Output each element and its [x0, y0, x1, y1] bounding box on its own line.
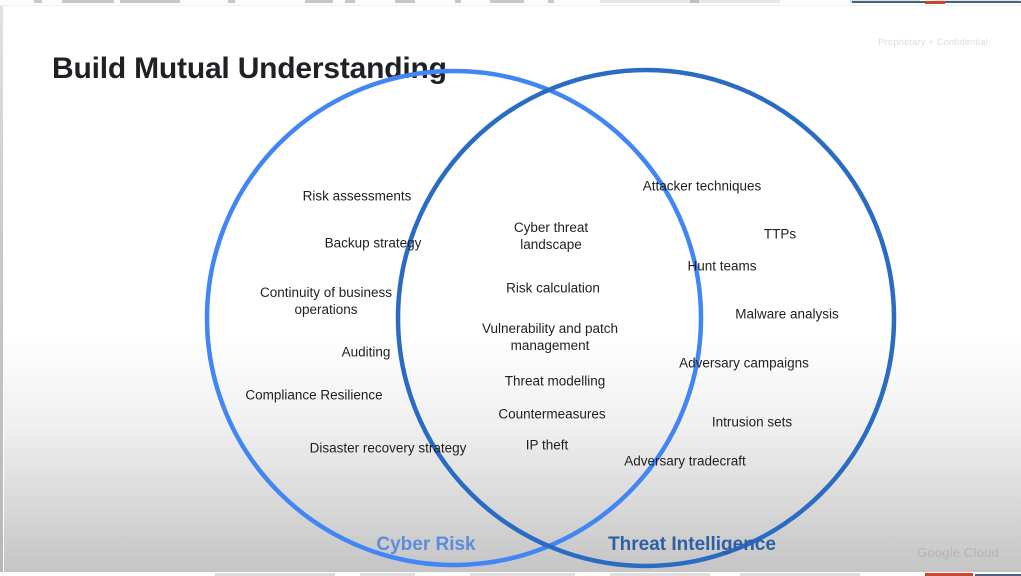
- venn-item-overlap: Vulnerability and patch management: [482, 321, 618, 355]
- google-cloud-logo: Google Cloud: [917, 545, 999, 560]
- venn-item-left: Compliance Resilience: [245, 388, 382, 405]
- venn-item-right: TTPs: [764, 227, 796, 244]
- slide-canvas: Build Mutual Understanding Proprietary +…: [4, 6, 1021, 572]
- venn-item-right: Intrusion sets: [712, 415, 792, 432]
- bottom-chrome-sliver: [0, 572, 1021, 576]
- venn-item-overlap: Threat modelling: [505, 374, 606, 391]
- venn-item-left: Risk assessments: [303, 189, 412, 206]
- venn-item-left: Auditing: [342, 345, 391, 362]
- confidentiality-note: Proprietary + Confidential: [878, 37, 988, 47]
- venn-item-left: Backup strategy: [325, 236, 422, 253]
- venn-item-right: Attacker techniques: [643, 179, 762, 196]
- venn-right-title: Threat Intelligence: [608, 534, 776, 556]
- venn-item-right: Adversary campaigns: [679, 356, 809, 373]
- venn-item-left: Disaster recovery strategy: [310, 441, 467, 458]
- venn-item-overlap: Countermeasures: [498, 407, 605, 424]
- venn-item-overlap: Cyber threat landscape: [514, 220, 588, 254]
- venn-item-right: Adversary tradecraft: [624, 454, 746, 471]
- venn-left-title: Cyber Risk: [376, 534, 475, 556]
- venn-item-overlap: IP theft: [526, 438, 569, 455]
- page-title: Build Mutual Understanding: [52, 52, 447, 86]
- venn-item-overlap: Risk calculation: [506, 281, 600, 298]
- venn-item-right: Malware analysis: [735, 307, 839, 324]
- left-edge-sliver: [0, 6, 3, 572]
- venn-item-left: Continuity of business operations: [260, 285, 392, 319]
- venn-item-right: Hunt teams: [687, 259, 756, 276]
